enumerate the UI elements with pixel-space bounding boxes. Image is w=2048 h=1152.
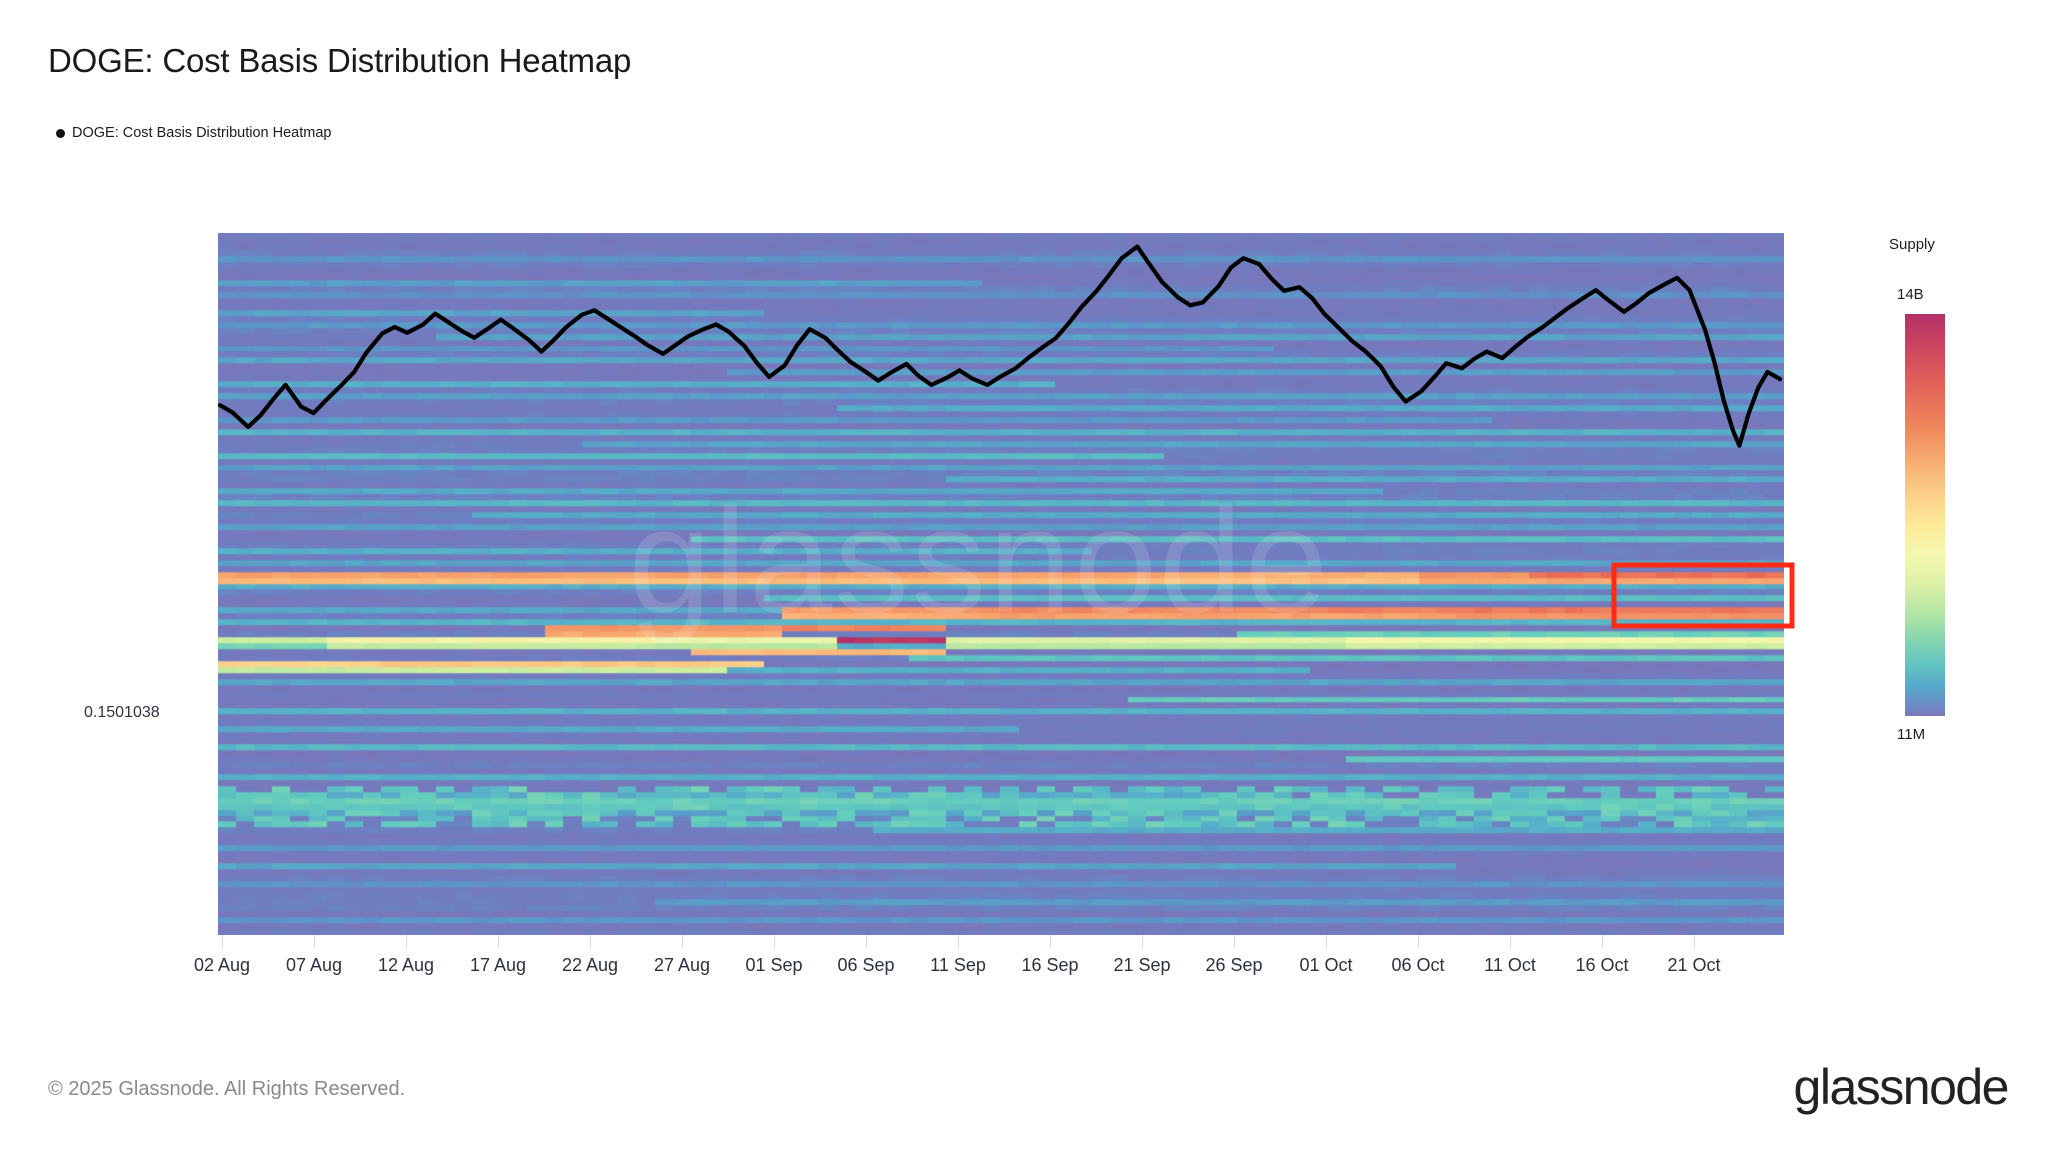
x-axis-tick-mark — [866, 935, 867, 948]
x-axis-tick-mark — [1418, 935, 1419, 948]
x-axis-tick-mark — [1234, 935, 1235, 948]
x-axis-tick-mark — [1050, 935, 1051, 948]
x-axis-tick-mark — [1602, 935, 1603, 948]
x-axis-tick-label: 06 Sep — [837, 955, 894, 976]
x-axis-tick-label: 01 Oct — [1299, 955, 1352, 976]
x-axis-tick-label: 16 Sep — [1021, 955, 1078, 976]
x-axis-tick-label: 22 Aug — [562, 955, 618, 976]
x-axis-tick-label: 06 Oct — [1391, 955, 1444, 976]
x-axis-tick-mark — [314, 935, 315, 948]
x-axis-tick-mark — [1694, 935, 1695, 948]
x-axis-tick-label: 16 Oct — [1575, 955, 1628, 976]
x-axis-tick-label: 01 Sep — [745, 955, 802, 976]
colorbar-min-label: 11M — [1897, 726, 1925, 743]
chart-plot-area[interactable]: glassnode — [218, 233, 1784, 935]
x-axis-tick-mark — [1510, 935, 1511, 948]
x-axis-tick-label: 02 Aug — [194, 955, 250, 976]
x-axis-tick-label: 12 Aug — [378, 955, 434, 976]
x-axis-tick-label: 21 Sep — [1113, 955, 1170, 976]
x-axis-tick-mark — [406, 935, 407, 948]
x-axis-tick-label: 17 Aug — [470, 955, 526, 976]
x-axis-tick-label: 21 Oct — [1667, 955, 1720, 976]
x-axis-tick-mark — [1142, 935, 1143, 948]
chart-legend[interactable]: DOGE: Cost Basis Distribution Heatmap — [56, 125, 331, 141]
colorbar-max-label: 14B — [1897, 286, 1924, 303]
glassnode-logo: glassnode — [1794, 1058, 2008, 1116]
colorbar-gradient — [1905, 314, 1945, 716]
annotation-overlay — [218, 233, 1784, 935]
x-axis-tick-label: 11 Oct — [1484, 955, 1536, 976]
footer-copyright: © 2025 Glassnode. All Rights Reserved. — [48, 1078, 405, 1101]
x-axis: 02 Aug07 Aug12 Aug17 Aug22 Aug27 Aug01 S… — [218, 935, 1784, 995]
x-axis-tick-mark — [498, 935, 499, 948]
colorbar: Supply 14B 11M — [1905, 236, 2025, 976]
y-axis-bottom-label: 0.1501038 — [84, 704, 160, 722]
x-axis-tick-mark — [222, 935, 223, 948]
x-axis-tick-mark — [590, 935, 591, 948]
x-axis-tick-mark — [774, 935, 775, 948]
page-title: DOGE: Cost Basis Distribution Heatmap — [48, 42, 631, 80]
highlight-rectangle[interactable] — [1614, 565, 1792, 626]
x-axis-tick-label: 26 Sep — [1205, 955, 1262, 976]
x-axis-tick-mark — [1326, 935, 1327, 948]
x-axis-tick-label: 07 Aug — [286, 955, 342, 976]
series-dot-icon — [56, 129, 65, 138]
x-axis-tick-mark — [682, 935, 683, 948]
x-axis-tick-label: 27 Aug — [654, 955, 710, 976]
x-axis-tick-mark — [958, 935, 959, 948]
legend-item-label: DOGE: Cost Basis Distribution Heatmap — [72, 125, 331, 141]
colorbar-title: Supply — [1889, 236, 1935, 253]
x-axis-tick-label: 11 Sep — [930, 955, 986, 976]
